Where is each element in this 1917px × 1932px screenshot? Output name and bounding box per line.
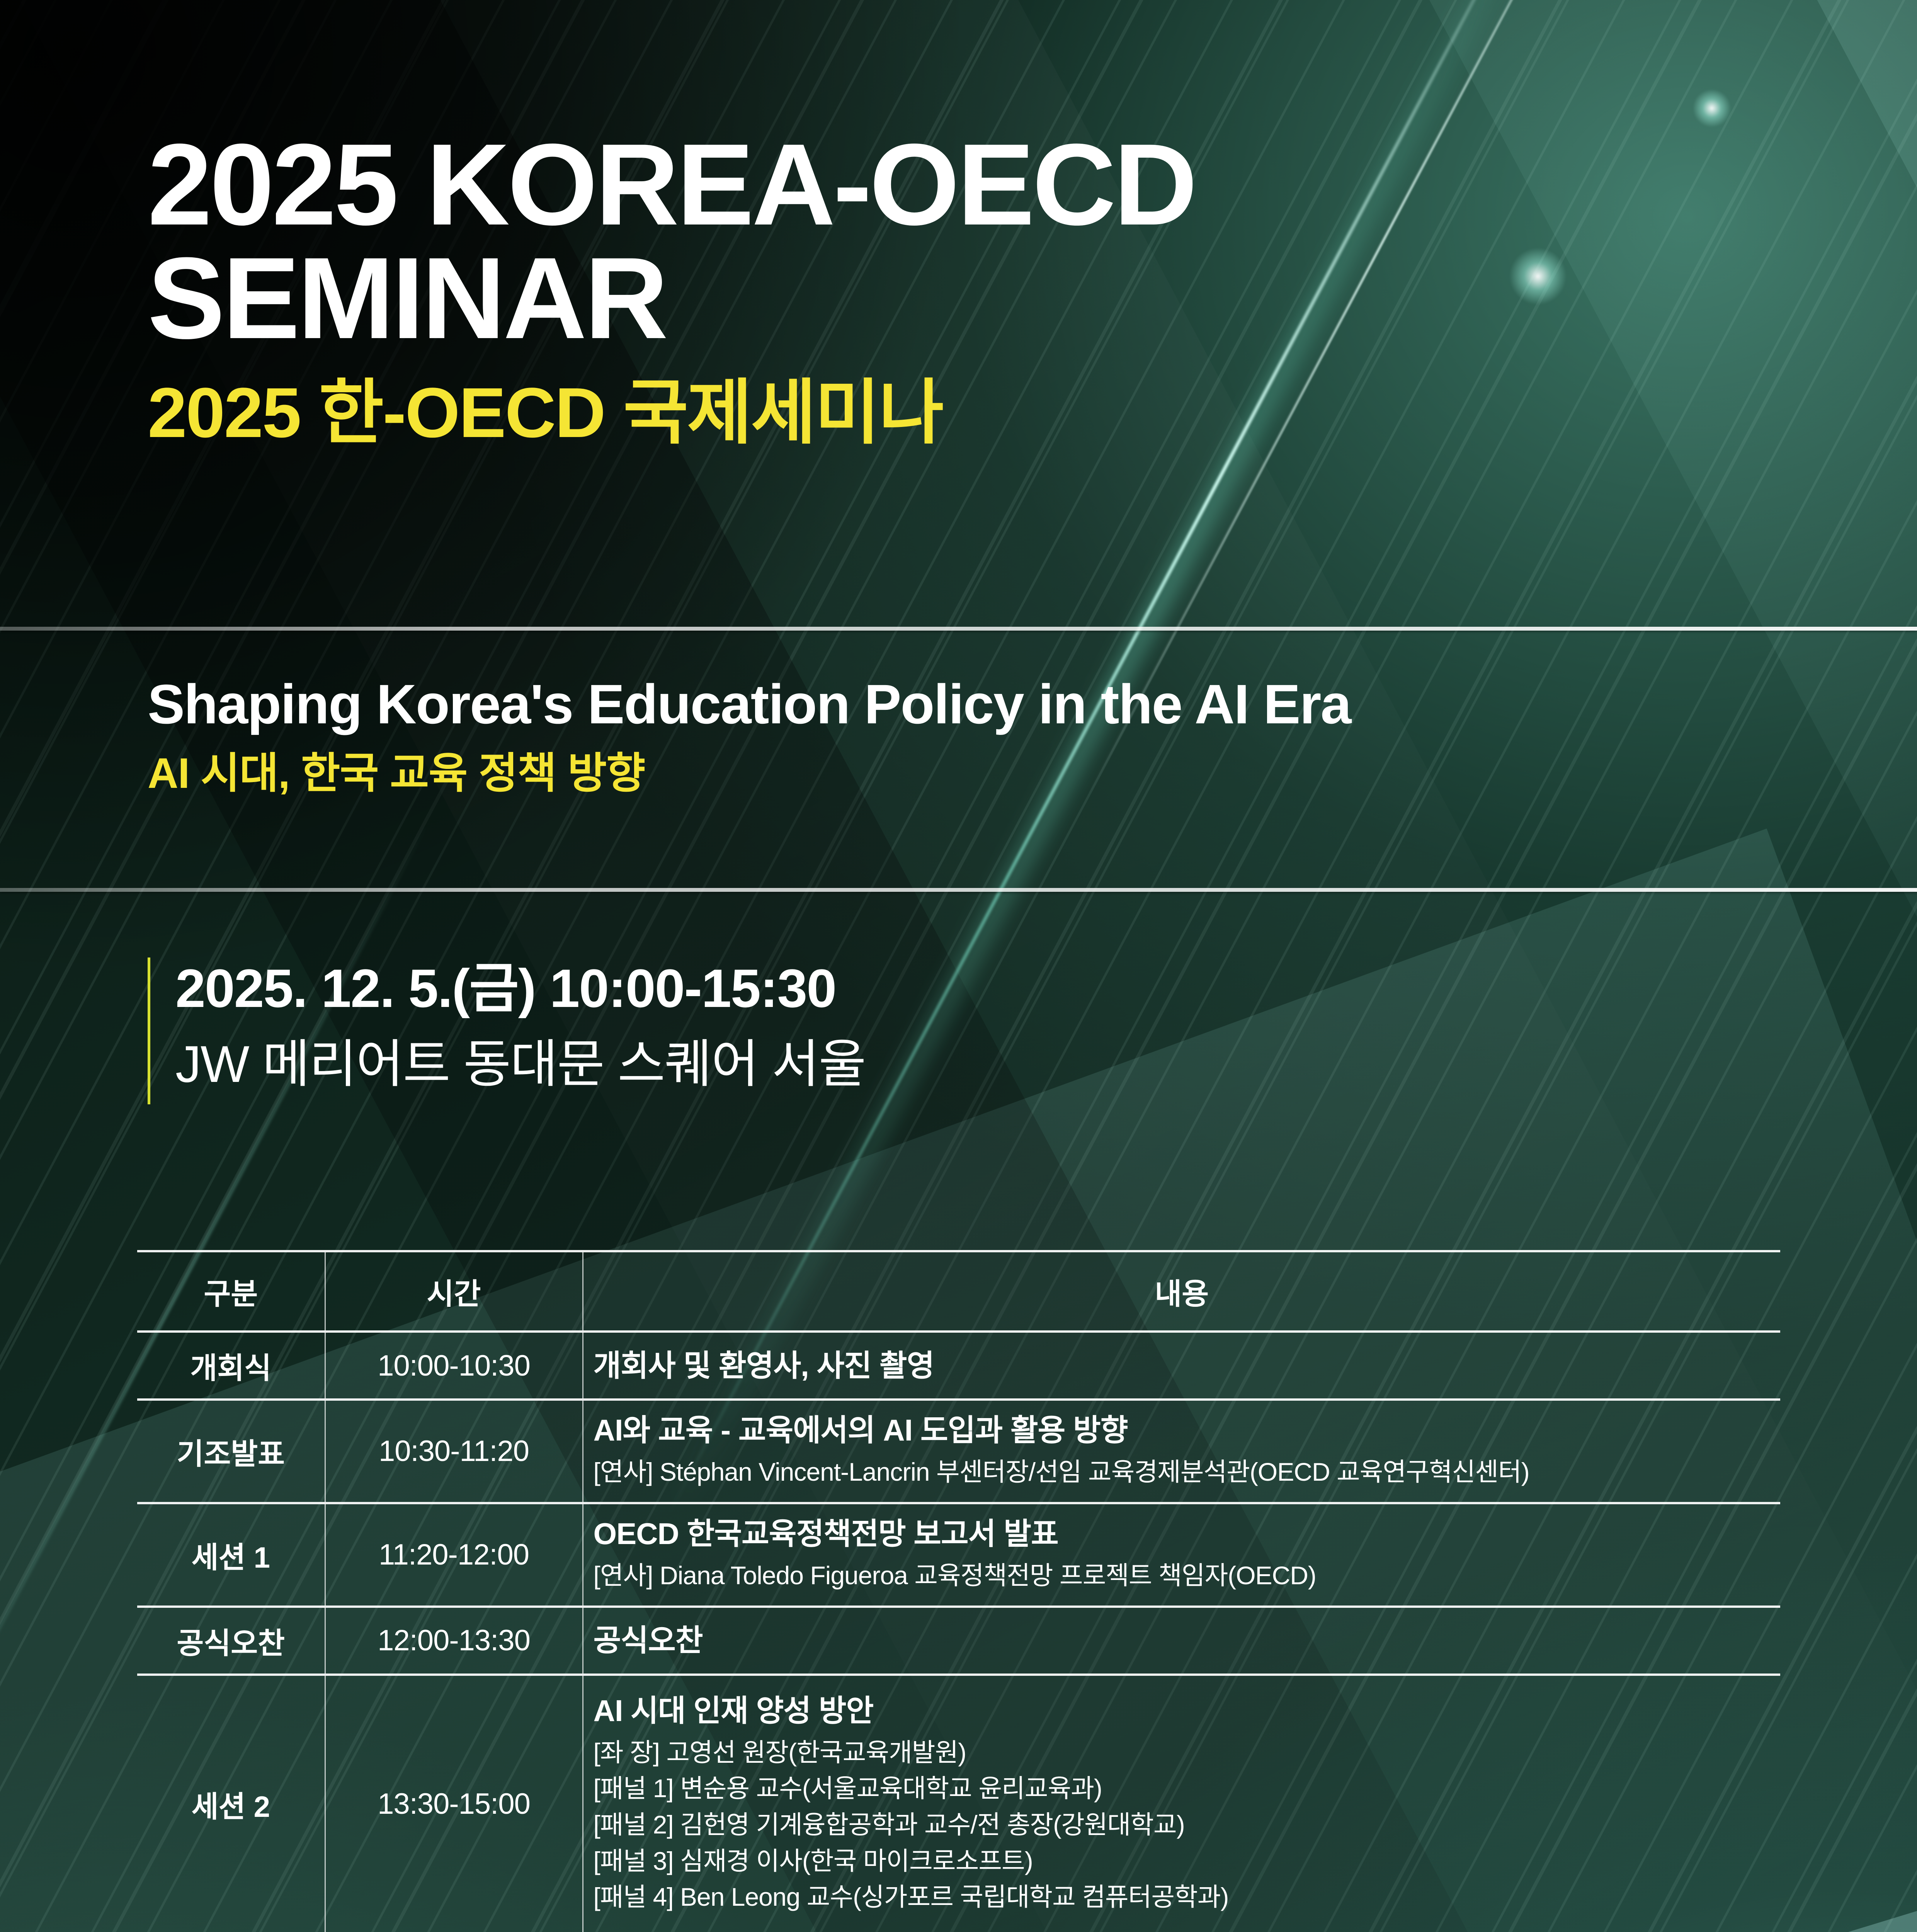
divider-top [0, 627, 1917, 631]
row-content-heading: AI와 교육 - 교육에서의 AI 도입과 활용 방향 [594, 1412, 1771, 1448]
row-content-line: [패널 3] 심재경 이사(한국 마이크로소프트) [594, 1843, 1771, 1879]
event-venue: JW 메리어트 동대문 스퀘어 서울 [175, 1031, 866, 1098]
row-content-lines: [연사] Diana Toledo Figueroa 교육정책전망 프로젝트 책… [594, 1558, 1771, 1594]
row-content-line: [좌 장] 고영선 원장(한국교육개발원) [594, 1735, 1771, 1771]
row-content: OECD 한국교육정책전망 보고서 발표[연사] Diana Toledo Fi… [583, 1503, 1780, 1607]
event-datetime: 2025. 12. 5.(금) 10:00-15:30 [175, 954, 866, 1022]
header-content: 내용 [583, 1251, 1780, 1332]
row-time: 11:20-12:00 [325, 1503, 583, 1607]
title-korean: 2025 한-OECD 국제세미나 [148, 369, 1809, 457]
row-content: 개회사 및 환영사, 사진 촬영 [583, 1332, 1780, 1400]
row-time: 10:30-11:20 [325, 1400, 583, 1503]
row-content-line: [패널 1] 변순용 교수(서울교육대학교 윤리교육과) [594, 1770, 1771, 1807]
row-time: 13:30-15:00 [325, 1675, 583, 1932]
seminar-poster: 2025 KOREA-OECD SEMINAR 2025 한-OECD 국제세미… [0, 0, 1917, 1932]
row-content-heading: 개회사 및 환영사, 사진 촬영 [594, 1348, 1771, 1383]
row-content: AI 시대 인재 양성 방안[좌 장] 고영선 원장(한국교육개발원)[패널 1… [583, 1675, 1780, 1932]
row-category: 개회식 [137, 1332, 325, 1400]
row-content-line: [연사] Stéphan Vincent-Lancrin 부센터장/선임 교육경… [594, 1454, 1771, 1490]
row-content: 공식오찬 [583, 1607, 1780, 1675]
header-category: 구분 [137, 1251, 325, 1332]
table-row: 개회식10:00-10:30개회사 및 환영사, 사진 촬영 [137, 1332, 1780, 1400]
row-content: AI와 교육 - 교육에서의 AI 도입과 활용 방향[연사] Stéphan … [583, 1400, 1780, 1503]
event-details-block: 2025. 12. 5.(금) 10:00-15:30 JW 메리어트 동대문 … [148, 954, 866, 1099]
schedule-table-body: 개회식10:00-10:30개회사 및 환영사, 사진 촬영기조발표10:30-… [137, 1332, 1780, 1932]
schedule-table: 구분 시간 내용 개회식10:00-10:30개회사 및 환영사, 사진 촬영기… [137, 1250, 1780, 1932]
subtitle-block: Shaping Korea's Education Policy in the … [148, 672, 1809, 801]
title-english-line1: 2025 KOREA-OECD [148, 128, 1809, 241]
row-content-line: [연사] Diana Toledo Figueroa 교육정책전망 프로젝트 책… [594, 1558, 1771, 1594]
header-time: 시간 [325, 1251, 583, 1332]
title-english-line2: SEMINAR [148, 241, 1809, 355]
row-category: 세션 1 [137, 1503, 325, 1607]
row-category: 공식오찬 [137, 1607, 325, 1675]
row-category: 세션 2 [137, 1675, 325, 1932]
table-row: 공식오찬12:00-13:30공식오찬 [137, 1607, 1780, 1675]
row-content-heading: 공식오찬 [594, 1622, 1771, 1658]
row-content-line: [패널 2] 김헌영 기계융합공학과 교수/전 총장(강원대학교) [594, 1807, 1771, 1843]
row-category: 기조발표 [137, 1400, 325, 1503]
title-block: 2025 KOREA-OECD SEMINAR 2025 한-OECD 국제세미… [148, 128, 1809, 457]
row-time: 10:00-10:30 [325, 1332, 583, 1400]
divider-bottom [0, 888, 1917, 892]
row-content-heading: OECD 한국교육정책전망 보고서 발표 [594, 1516, 1771, 1551]
row-time: 12:00-13:30 [325, 1607, 583, 1675]
subtitle-english: Shaping Korea's Education Policy in the … [148, 672, 1809, 737]
table-row: 기조발표10:30-11:20AI와 교육 - 교육에서의 AI 도입과 활용 … [137, 1400, 1780, 1503]
row-content-heading: AI 시대 인재 양성 방안 [594, 1693, 1771, 1728]
row-content-lines: [좌 장] 고영선 원장(한국교육개발원)[패널 1] 변순용 교수(서울교육대… [594, 1735, 1771, 1916]
table-row: 세션 213:30-15:00AI 시대 인재 양성 방안[좌 장] 고영선 원… [137, 1675, 1780, 1932]
row-content-lines: [연사] Stéphan Vincent-Lancrin 부센터장/선임 교육경… [594, 1454, 1771, 1490]
table-header-row: 구분 시간 내용 [137, 1251, 1780, 1332]
subtitle-korean: AI 시대, 한국 교육 정책 방향 [148, 746, 1809, 801]
table-row: 세션 111:20-12:00OECD 한국교육정책전망 보고서 발표[연사] … [137, 1503, 1780, 1607]
accent-bar [148, 957, 150, 1104]
row-content-line: [패널 4] Ben Leong 교수(싱가포르 국립대학교 컴퓨터공학과) [594, 1879, 1771, 1915]
